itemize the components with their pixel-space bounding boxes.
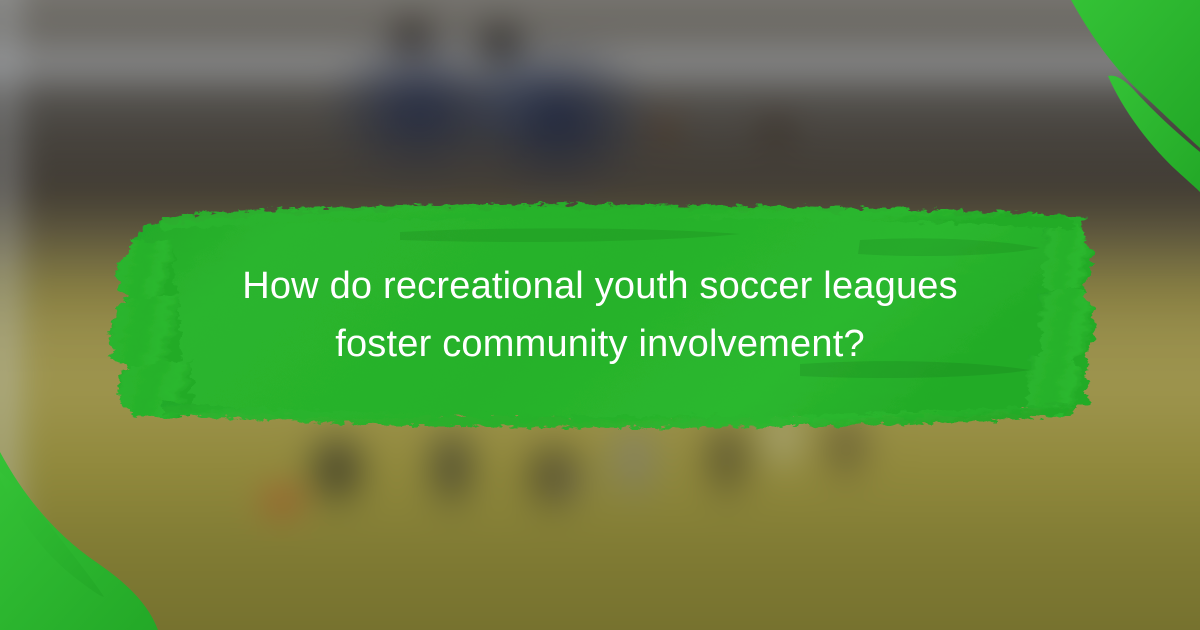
page-title: How do recreational youth soccer leagues… (120, 210, 1080, 422)
question-card: How do recreational youth soccer leagues… (0, 0, 1200, 630)
headline-line-1: How do recreational youth soccer leagues (242, 258, 958, 316)
headline-line-2: foster community involvement? (335, 316, 865, 374)
